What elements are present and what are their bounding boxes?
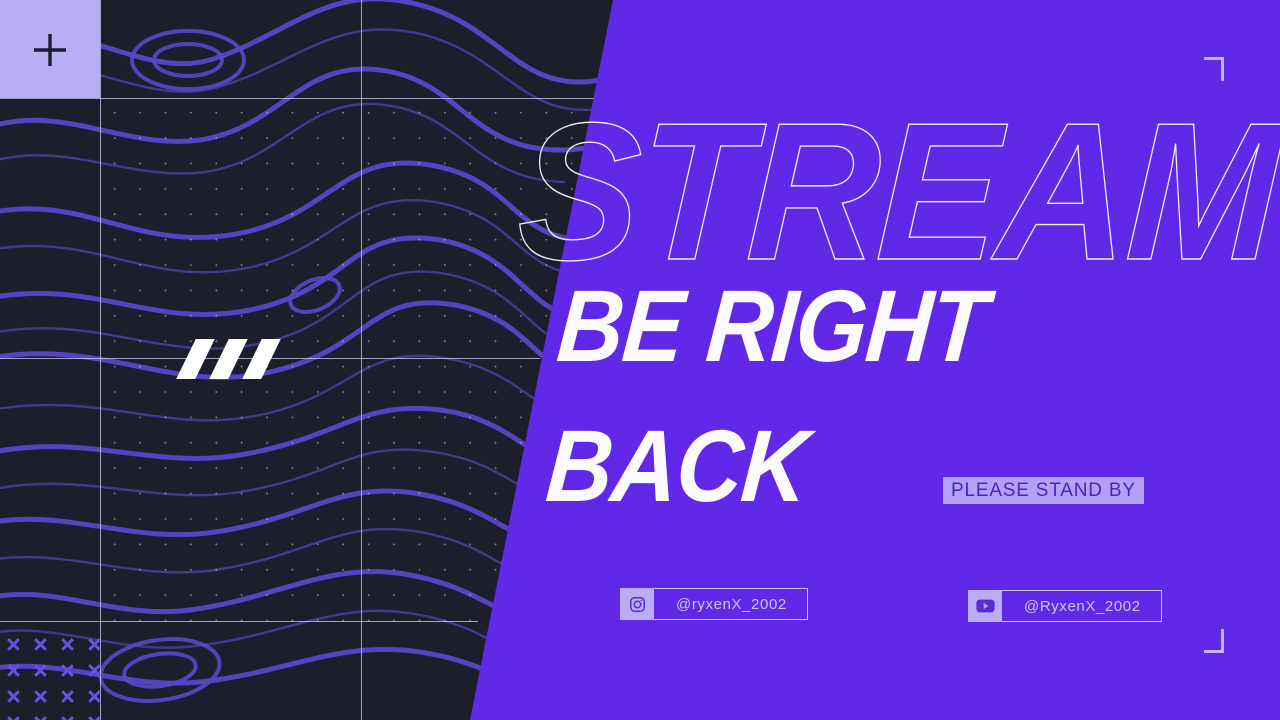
x-mark-icon bbox=[58, 632, 85, 658]
instagram-icon bbox=[620, 588, 654, 620]
social-badge-youtube[interactable]: @RyxenX_2002 bbox=[968, 590, 1162, 622]
x-mark-icon bbox=[31, 684, 58, 710]
plus-icon bbox=[0, 0, 100, 98]
x-dot-pattern bbox=[4, 632, 112, 720]
stream-overlay-screen: STREAM BE RIGHT BACK PLEASE STAND BY @ry… bbox=[0, 0, 1280, 720]
x-mark-icon bbox=[4, 684, 31, 710]
instagram-handle: @ryxenX_2002 bbox=[654, 588, 808, 620]
x-mark-icon bbox=[4, 632, 31, 658]
x-mark-icon bbox=[85, 658, 112, 684]
status-badge: PLEASE STAND BY bbox=[943, 477, 1144, 504]
corner-bracket-top-right-icon bbox=[1204, 57, 1224, 81]
x-mark-icon bbox=[85, 632, 112, 658]
social-badge-instagram[interactable]: @ryxenX_2002 bbox=[620, 588, 808, 620]
corner-bracket-bottom-right-icon bbox=[1204, 629, 1224, 653]
x-mark-icon bbox=[31, 658, 58, 684]
youtube-icon bbox=[968, 590, 1002, 622]
x-mark-icon bbox=[85, 710, 112, 720]
x-mark-icon bbox=[31, 710, 58, 720]
x-mark-icon bbox=[31, 632, 58, 658]
x-mark-icon bbox=[58, 684, 85, 710]
x-mark-icon bbox=[58, 710, 85, 720]
slash-logo-mark bbox=[180, 339, 288, 379]
x-mark-icon bbox=[85, 684, 112, 710]
headline-line-1: BE RIGHT bbox=[554, 269, 991, 383]
youtube-handle: @RyxenX_2002 bbox=[1002, 590, 1162, 622]
x-mark-icon bbox=[4, 710, 31, 720]
x-mark-icon bbox=[4, 658, 31, 684]
standby-label: PLEASE STAND BY bbox=[951, 480, 1136, 502]
x-mark-icon bbox=[58, 658, 85, 684]
